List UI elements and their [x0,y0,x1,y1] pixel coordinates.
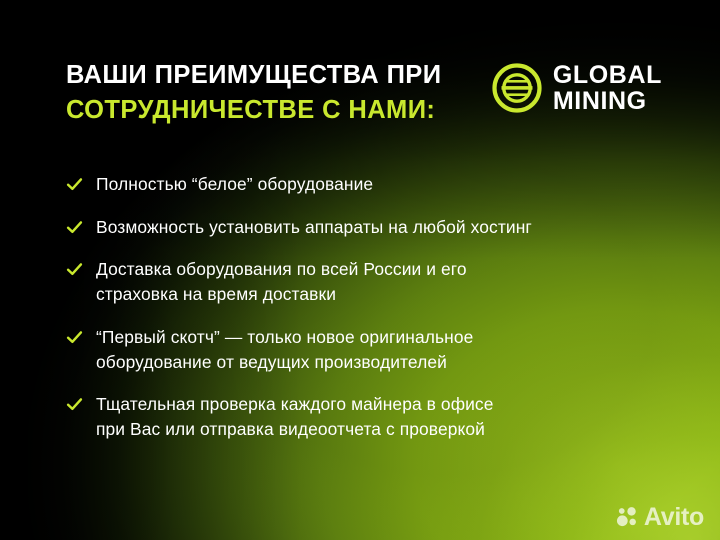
benefit-line: при Вас или отправка видеоотчета с прове… [96,417,494,442]
benefits-list: Полностью “белое” оборудованиеВозможност… [66,172,646,460]
avito-label: Avito [644,505,704,530]
benefit-line: страховка на время доставки [96,282,467,307]
page-title: ВАШИ ПРЕИМУЩЕСТВА ПРИ СОТРУДНИЧЕСТВЕ С Н… [66,58,441,127]
global-mining-emblem-icon [492,63,542,113]
poster-header: ВАШИ ПРЕИМУЩЕСТВА ПРИ СОТРУДНИЧЕСТВЕ С Н… [66,58,666,127]
check-icon [66,329,83,346]
check-icon [66,396,83,413]
headline-line-2: СОТРУДНИЧЕСТВЕ С НАМИ: [66,93,441,128]
check-icon [66,261,83,278]
benefit-text: Доставка оборудования по всей России и е… [96,257,467,306]
benefit-text: Тщательная проверка каждого майнера в оф… [96,392,494,441]
list-item: Доставка оборудования по всей России и е… [66,257,646,306]
benefit-line: “Первый скотч” — только новое оригинальн… [96,325,473,350]
list-item: Возможность установить аппараты на любой… [66,215,646,240]
benefit-line: Возможность установить аппараты на любой… [96,215,532,240]
benefit-text: Возможность установить аппараты на любой… [96,215,532,240]
benefit-line: Тщательная проверка каждого майнера в оф… [96,392,494,417]
check-icon [66,219,83,236]
brand-name-line-2: MINING [553,88,662,114]
list-item: Тщательная проверка каждого майнера в оф… [66,392,646,441]
check-icon [66,176,83,193]
brand-name-line-1: GLOBAL [553,62,662,88]
list-item: “Первый скотч” — только новое оригинальн… [66,325,646,374]
headline-line-1: ВАШИ ПРЕИМУЩЕСТВА ПРИ [66,58,441,93]
avito-dots-icon [616,506,639,529]
benefit-line: Полностью “белое” оборудование [96,172,373,197]
brand-logo: GLOBAL MINING [492,62,662,115]
avito-watermark: Avito [616,505,704,530]
benefit-line: Доставка оборудования по всей России и е… [96,257,467,282]
promo-poster: ВАШИ ПРЕИМУЩЕСТВА ПРИ СОТРУДНИЧЕСТВЕ С Н… [0,0,720,540]
brand-logo-wordmark: GLOBAL MINING [553,62,662,115]
benefit-line: оборудование от ведущих производителей [96,350,473,375]
benefit-text: “Первый скотч” — только новое оригинальн… [96,325,473,374]
benefit-text: Полностью “белое” оборудование [96,172,373,197]
list-item: Полностью “белое” оборудование [66,172,646,197]
